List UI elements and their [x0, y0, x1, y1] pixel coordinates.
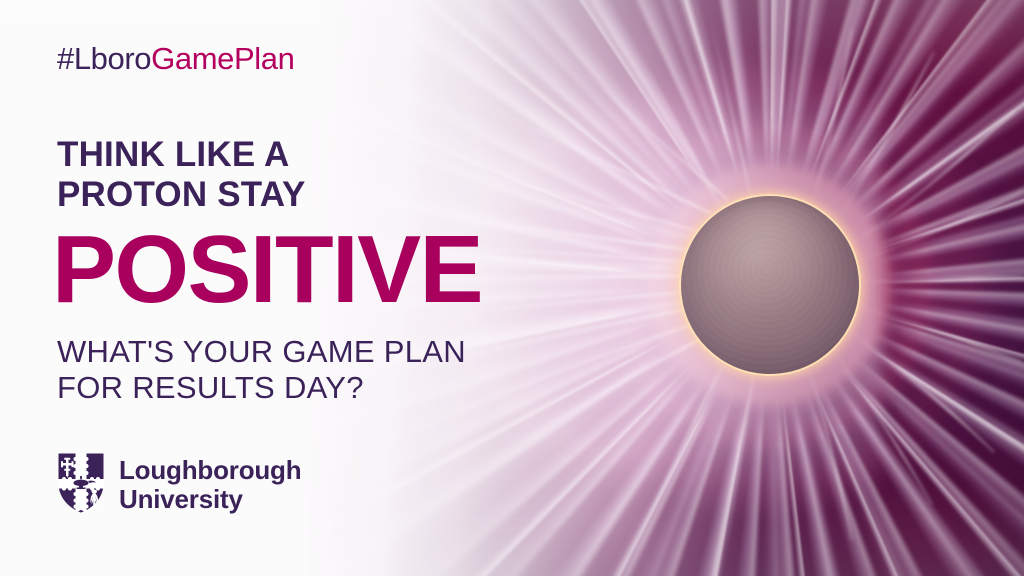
kicker-line-2: PROTON STAY	[57, 175, 306, 215]
university-wordmark: Loughborough University	[119, 452, 301, 514]
university-crest-icon	[57, 452, 105, 514]
headline-kicker: THINK LIKE A PROTON STAY	[57, 135, 306, 215]
wordmark-line-2: University	[119, 485, 301, 514]
sub-headline: WHAT'S YOUR GAME PLAN FOR RESULTS DAY?	[57, 334, 466, 406]
hero-word: POSITIVE	[52, 222, 482, 318]
loughborough-university-logo: Loughborough University	[57, 452, 301, 514]
hashtag-prefix: #Lboro	[57, 41, 151, 76]
kicker-line-1: THINK LIKE A	[57, 135, 306, 175]
hashtag-suffix: GamePlan	[151, 41, 294, 76]
poster-canvas: #LboroGamePlan THINK LIKE A PROTON STAY …	[0, 0, 1024, 576]
subcopy-line-2: FOR RESULTS DAY?	[57, 370, 466, 406]
subcopy-line-1: WHAT'S YOUR GAME PLAN	[57, 334, 466, 370]
wordmark-line-1: Loughborough	[119, 456, 301, 485]
campaign-hashtag: #LboroGamePlan	[57, 41, 294, 77]
